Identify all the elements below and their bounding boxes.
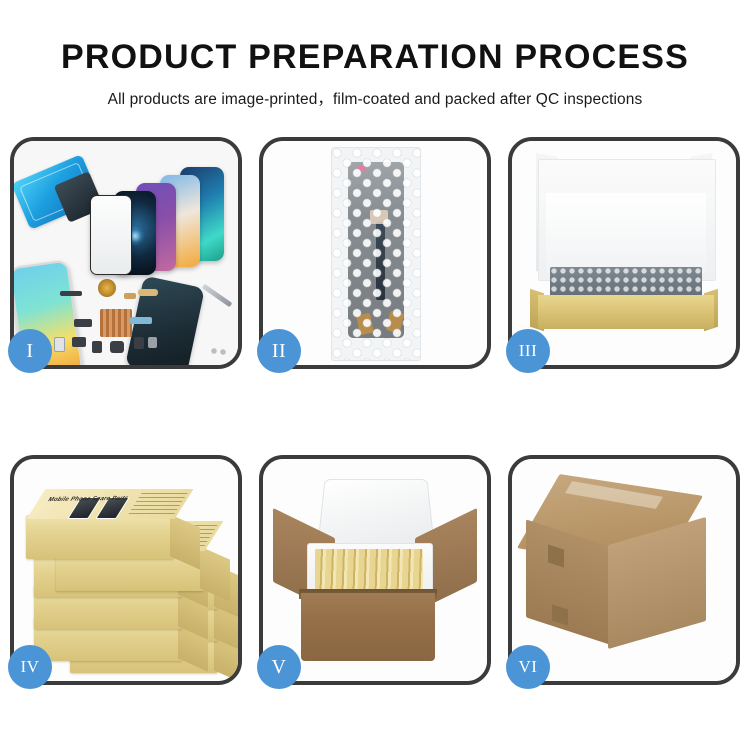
step-image-6 [512,459,736,681]
retail-box-label-back: Mobile Phone Spare Parts [37,495,180,519]
step-card-3[interactable]: III [508,137,740,369]
scene-carton-with-foam-box [263,459,487,681]
bubble-texture [332,148,420,360]
steps-grid: I II [10,137,740,685]
page-title: PRODUCT PREPARATION PROCESS [0,0,750,77]
step-card-4[interactable]: Mobile Phone Spare Parts Mobile Phone Sp… [10,455,242,685]
step-image-3 [512,141,736,365]
step-badge-3: III [506,329,550,373]
retail-box-back: Mobile Phone Spare Parts [26,515,174,559]
step-card-2[interactable]: II [259,137,491,369]
step-image-1 [14,141,238,365]
step-badge-5: V [257,645,301,689]
scene-sealed-shipping-carton [512,459,736,681]
tempered-glass-icon [90,195,132,275]
box-stack: Mobile Phone Spare Parts Mobile Phone Sp… [22,481,232,671]
scene-foam-lined-kraft-box [512,141,736,365]
packed-boxes-icon [315,549,423,593]
screws-icon [210,347,230,355]
kraft-tray-icon [538,295,714,329]
step-badge-4: IV [8,645,52,689]
scene-components-and-screens [14,141,238,365]
step-badge-2: II [257,329,301,373]
step-image-5 [263,459,487,681]
step-badge-1: I [8,329,52,373]
foam-sheet-icon [546,193,706,273]
product-preparation-infographic: PRODUCT PREPARATION PROCESS All products… [0,0,750,750]
scene-bubble-wrapped-screen [263,141,487,365]
step-card-1[interactable]: I [10,137,242,369]
copper-coil-icon [98,279,116,297]
step-image-2 [263,141,487,365]
header: PRODUCT PREPARATION PROCESS All products… [0,0,750,109]
step-card-6[interactable]: VI [508,455,740,685]
chip-grid-icon [100,309,132,337]
bubble-wrap-bag-icon [331,147,421,361]
step-card-5[interactable]: V [259,455,491,685]
step-image-4: Mobile Phone Spare Parts Mobile Phone Sp… [14,459,238,681]
carton-body-icon [301,593,435,661]
page-subtitle: All products are image-printed，film-coat… [0,77,750,109]
step-badge-6: VI [506,645,550,689]
scene-stacked-retail-boxes: Mobile Phone Spare Parts Mobile Phone Sp… [14,459,238,681]
